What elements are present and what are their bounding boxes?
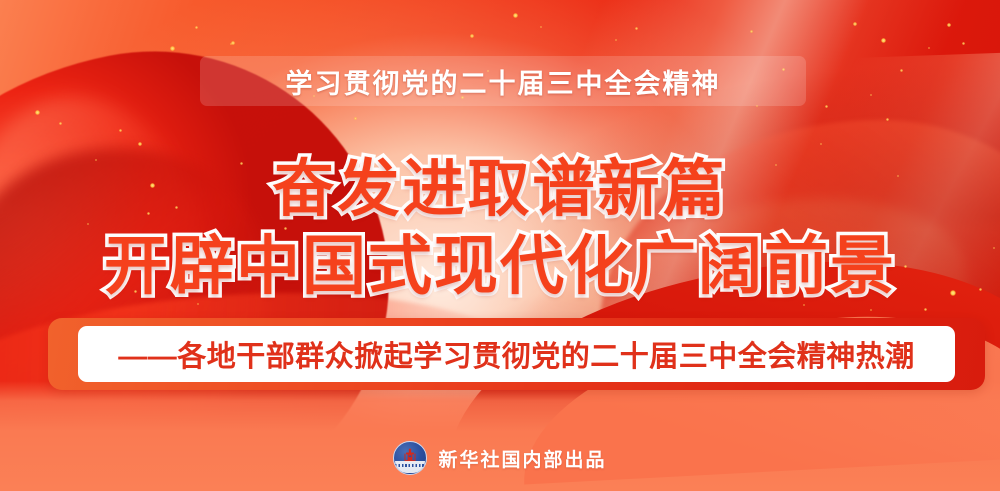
- footer-credit-label: 新华社国内部出品: [438, 445, 606, 472]
- footer-credit: 新华社国内部出品: [0, 441, 1000, 475]
- campaign-banner-label: 学习贯彻党的二十届三中全会精神: [286, 62, 721, 101]
- subtitle-card: ——各地干部群众掀起学习贯彻党的二十届三中全会精神热潮: [48, 318, 985, 390]
- campaign-banner: 学习贯彻党的二十届三中全会精神: [200, 56, 806, 106]
- xinhua-logo-ribbon: [395, 461, 425, 473]
- xinhua-logo-ribbon-text: [395, 464, 425, 467]
- poster-canvas: 学习贯彻党的二十届三中全会精神 奋发进取谱新篇 开辟中国式现代化广阔前景 ——各…: [0, 0, 1000, 491]
- subtitle-card-inner: ——各地干部群众掀起学习贯彻党的二十届三中全会精神热潮: [78, 326, 955, 382]
- xinhua-logo-icon: [393, 441, 427, 475]
- subtitle-text: ——各地干部群众掀起学习贯彻党的二十届三中全会精神热潮: [118, 333, 915, 375]
